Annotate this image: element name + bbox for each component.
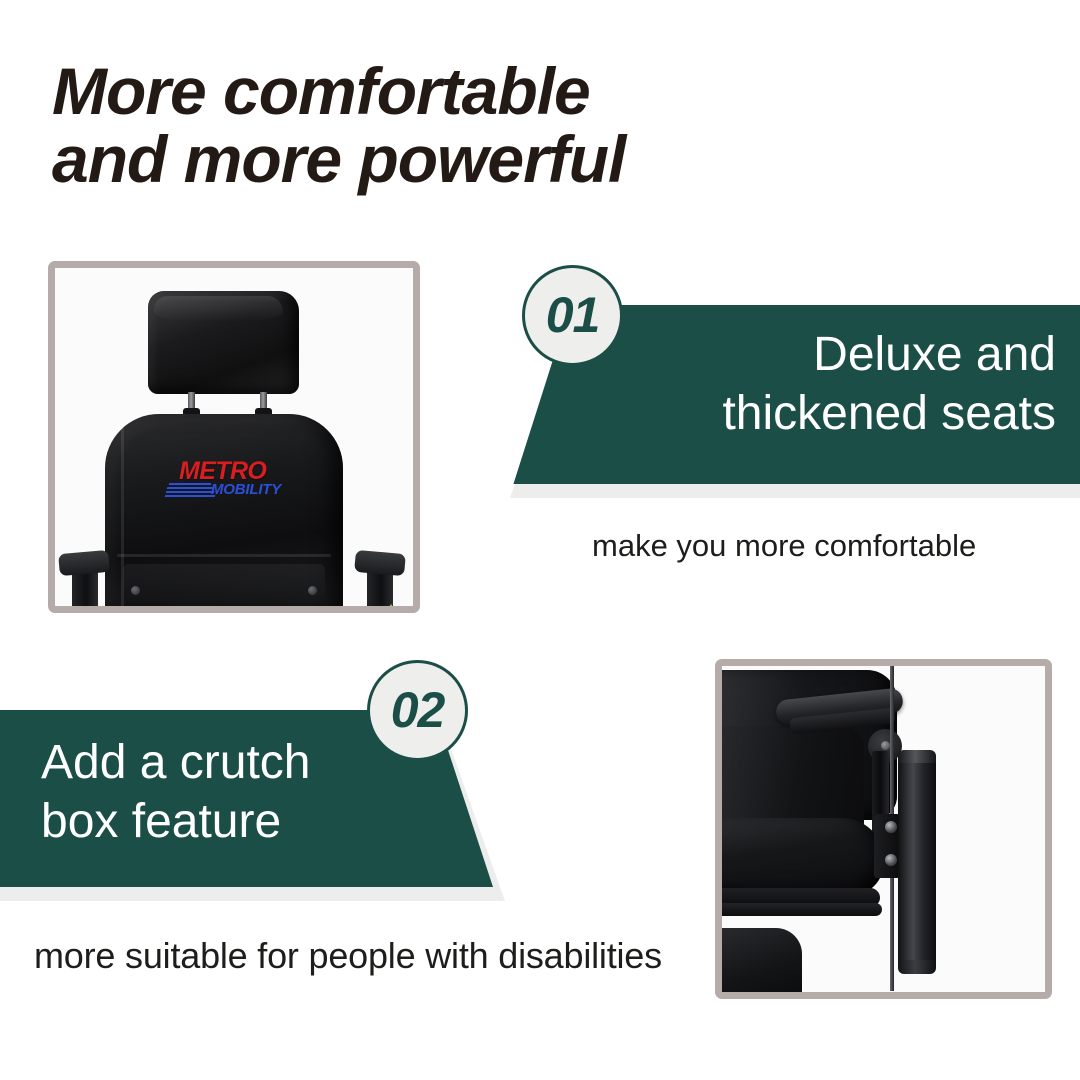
feature-2-title-line-2: box feature: [41, 793, 441, 852]
feature-2-title: Add a crutch box feature: [41, 734, 441, 851]
logo-brand-mobility: MOBILITY: [211, 482, 281, 497]
seat-back-cushion: [105, 414, 343, 613]
armrest-pad-left: [58, 550, 110, 576]
bracket-bolt-upper: [885, 821, 897, 833]
armrest-pad-right: [354, 550, 406, 576]
feature-photo-seat-back: METRO MOBILITY: [48, 261, 420, 613]
headline-line-1: More comfortable: [52, 58, 852, 126]
headline-line-2: and more powerful: [52, 126, 852, 194]
seat-screw-right: [308, 586, 317, 595]
crutch-holder-tube-top-cap: [898, 750, 936, 763]
seat-screw-left: [131, 586, 140, 595]
bracket-bolt-lower: [885, 854, 897, 866]
crutch-holder-tube: [898, 754, 936, 972]
seat-back-crease: [121, 428, 124, 613]
feature-1-title-line-1: Deluxe and: [596, 326, 1056, 385]
feature-1-caption: make you more comfortable: [592, 528, 976, 564]
feature-1-title-line-2: thickened seats: [596, 385, 1056, 444]
armrest-bolt-right: [376, 606, 384, 613]
headrest-cushion: [148, 291, 299, 394]
seat-cushion-side: [715, 818, 884, 896]
feature-2-number: 02: [391, 685, 445, 735]
page-title: More comfortable and more powerful: [52, 58, 852, 194]
feature-1-number: 01: [546, 290, 600, 340]
photo-seat-back-illustration: METRO MOBILITY: [55, 268, 413, 606]
feature-2-caption: more suitable for people with disabiliti…: [34, 935, 662, 977]
metro-mobility-logo: METRO MOBILITY: [165, 459, 283, 501]
feature-1-title: Deluxe and thickened seats: [596, 326, 1056, 443]
feature-2-number-badge: 02: [367, 660, 468, 761]
warning-label-icon: [385, 604, 397, 613]
photo-crutch-holder-illustration: [722, 666, 1045, 992]
logo-speed-lines-icon: [165, 483, 215, 499]
feature-1-number-badge: 01: [522, 265, 623, 366]
feature-photo-crutch-holder: [715, 659, 1052, 999]
seat-pedestal-base: [715, 928, 802, 999]
seat-frame-rail: [715, 903, 882, 916]
crutch-holder-tube-bottom-cap: [898, 960, 936, 974]
armrest-bolt-left: [81, 606, 89, 613]
